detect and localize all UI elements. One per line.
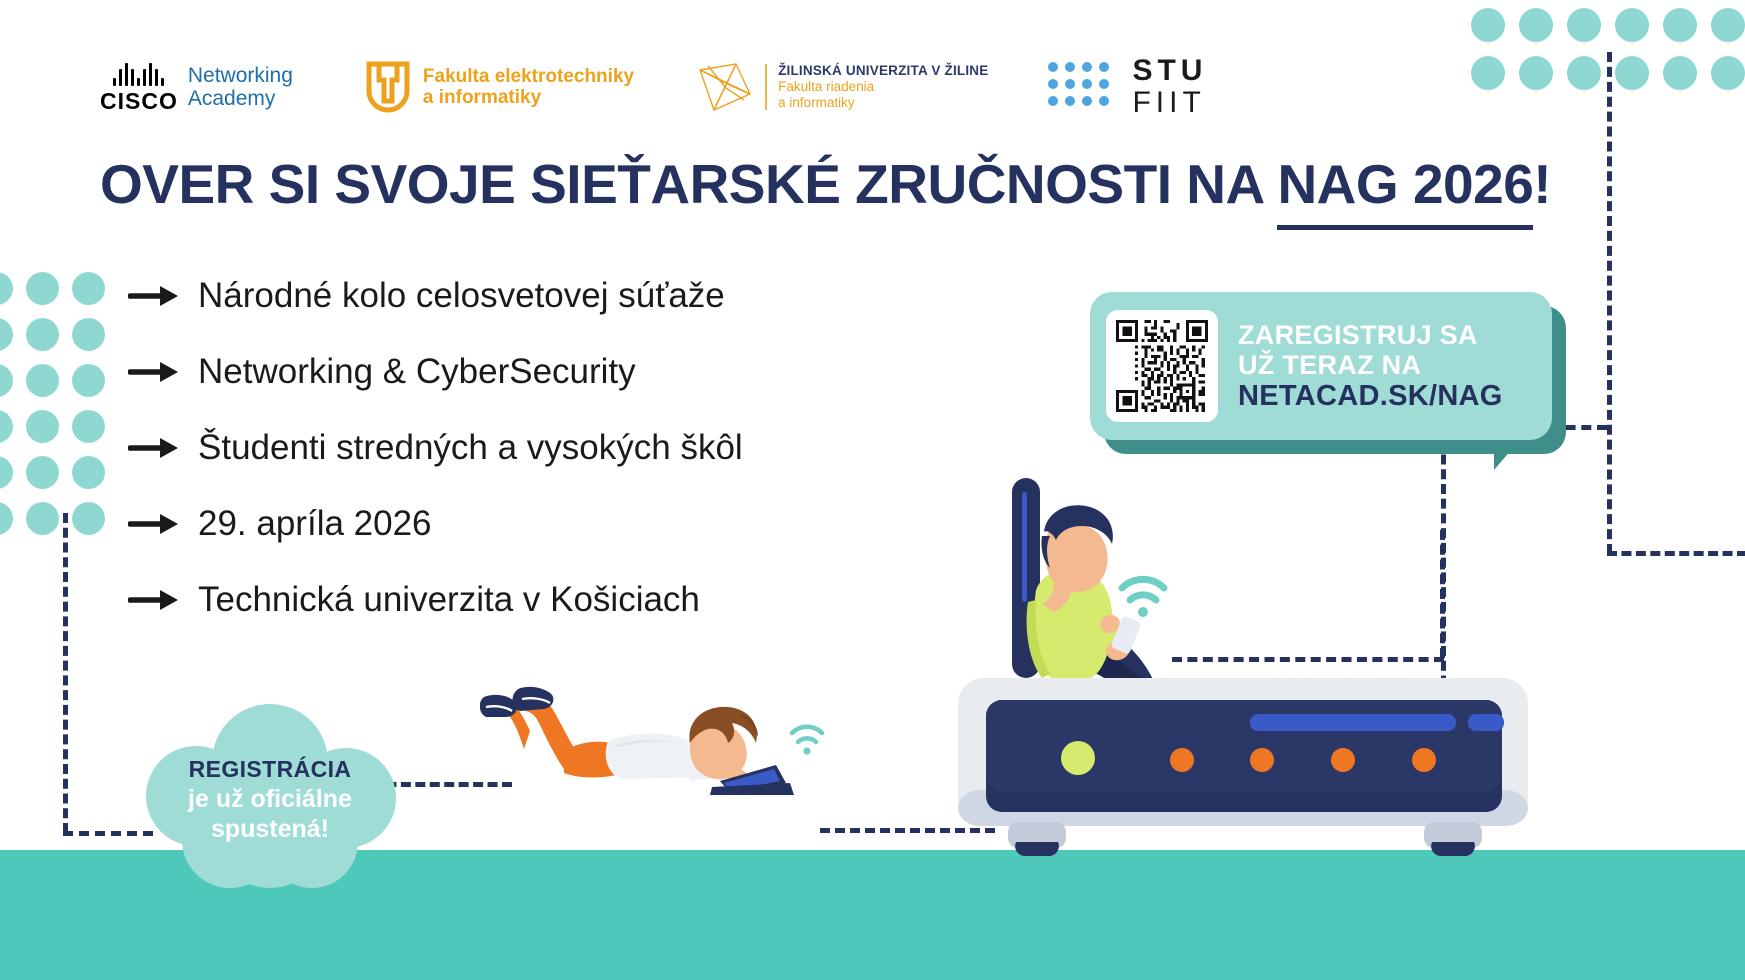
- wifi-router-illustration: [950, 470, 1550, 870]
- router-led-0: [1061, 741, 1095, 775]
- list-item-label: Národné kolo celosvetovej súťaže: [198, 276, 725, 316]
- list-item-label: Technická univerzita v Košiciach: [198, 580, 700, 620]
- registration-text: ZAREGISTRUJ SA UŽ TERAZ NA NETACAD.SK/NA…: [1238, 320, 1503, 413]
- list-item: Národné kolo celosvetovej súťaže: [128, 258, 743, 334]
- headline-suffix: !: [1533, 153, 1551, 215]
- cisco-line2: Academy: [188, 87, 293, 111]
- qr-code-icon: [1116, 320, 1208, 412]
- cloud-text: REGISTRÁCIA je už oficiálne spustená!: [120, 756, 420, 844]
- page-title: OVER SI SVOJE SIEŤARSKÉ ZRUČNOSTI NA NAG…: [100, 152, 1551, 216]
- poster-canvas: CISCO Networking Academy Fakulta elektro…: [0, 0, 1745, 980]
- router-led-1: [1170, 748, 1194, 772]
- router-led-3: [1331, 748, 1355, 772]
- arrow-right-icon: [128, 587, 186, 613]
- uniza-star-icon: [696, 60, 754, 114]
- dashed-line-right-horizontal: [1607, 551, 1745, 556]
- zilinska-univerzita-logo: ŽILINSKÁ UNIVERZITA V ŽILINE Fakulta ria…: [696, 60, 988, 114]
- uniza-sub2: a informatiky: [778, 95, 988, 111]
- cloud-line3: spustená!: [120, 814, 420, 844]
- person-lying-with-laptop-illustration: [480, 655, 840, 795]
- arrow-right-icon: [128, 435, 186, 461]
- fei-line2: a informatiky: [423, 87, 634, 109]
- headline-prefix: OVER SI SVOJE SIEŤARSKÉ ZRUČNOSTI NA: [100, 153, 1277, 215]
- qr-code-container[interactable]: [1106, 310, 1218, 422]
- headline-highlight: NAG 2026: [1277, 153, 1533, 230]
- uniza-text: ŽILINSKÁ UNIVERZITA V ŽILINE Fakulta ria…: [778, 63, 988, 112]
- registration-callout-bubble[interactable]: ZAREGISTRUJ SA UŽ TERAZ NA NETACAD.SK/NA…: [1090, 292, 1552, 440]
- registration-line1: ZAREGISTRUJ SA: [1238, 320, 1503, 350]
- event-info-list: Národné kolo celosvetovej súťaže Network…: [128, 258, 743, 638]
- list-item: Študenti stredných a vysokých škôl: [128, 410, 743, 486]
- list-item-label: Študenti stredných a vysokých škôl: [198, 428, 743, 468]
- registration-line2: UŽ TERAZ NA: [1238, 350, 1503, 380]
- cisco-mark: CISCO: [100, 60, 178, 115]
- arrow-right-icon: [128, 511, 186, 537]
- stu-fiit-logo: STU FIIT: [1048, 55, 1207, 120]
- uniza-sub1: Fakulta riadenia: [778, 79, 988, 95]
- stu-text: STU FIIT: [1132, 55, 1207, 120]
- partner-logo-row: CISCO Networking Academy Fakulta elektro…: [100, 55, 1207, 120]
- router-led-2: [1250, 748, 1274, 772]
- list-item-label: 29. apríla 2026: [198, 504, 432, 544]
- list-item: Technická univerzita v Košiciach: [128, 562, 743, 638]
- cloud-line1: REGISTRÁCIA: [120, 756, 420, 784]
- fei-shield-icon: [365, 61, 411, 113]
- stu-line1: STU: [1132, 55, 1207, 87]
- cisco-academy-text: Networking Academy: [188, 64, 293, 111]
- stu-dot-grid-icon: [1048, 62, 1116, 113]
- fei-text: Fakulta elektrotechniky a informatiky: [423, 66, 634, 110]
- decorative-dot-grid-left: [0, 272, 118, 548]
- registration-status-cloud: REGISTRÁCIA je už oficiálne spustená!: [120, 700, 420, 890]
- list-item-label: Networking & CyberSecurity: [198, 352, 636, 392]
- stu-line2: FIIT: [1132, 87, 1207, 119]
- list-item: Networking & CyberSecurity: [128, 334, 743, 410]
- cisco-networking-academy-logo: CISCO Networking Academy: [100, 60, 293, 115]
- arrow-right-icon: [128, 359, 186, 385]
- dashed-line-left-vertical: [63, 513, 68, 833]
- uniza-divider: [765, 64, 767, 110]
- list-item: 29. apríla 2026: [128, 486, 743, 562]
- registration-url[interactable]: NETACAD.SK/NAG: [1238, 380, 1503, 412]
- uniza-title: ŽILINSKÁ UNIVERZITA V ŽILINE: [778, 63, 988, 79]
- cisco-line1: Networking: [188, 64, 293, 88]
- cisco-bars-icon: [113, 60, 164, 86]
- cloud-line2: je už oficiálne: [120, 784, 420, 814]
- fei-line1: Fakulta elektrotechniky: [423, 66, 634, 88]
- router-led-4: [1412, 748, 1436, 772]
- arrow-right-icon: [128, 283, 186, 309]
- bubble-body: ZAREGISTRUJ SA UŽ TERAZ NA NETACAD.SK/NA…: [1090, 292, 1552, 440]
- fakulta-elektrotechniky-logo: Fakulta elektrotechniky a informatiky: [365, 61, 634, 113]
- dashed-line-right-vertical: [1607, 52, 1612, 554]
- cisco-wordmark: CISCO: [100, 88, 178, 115]
